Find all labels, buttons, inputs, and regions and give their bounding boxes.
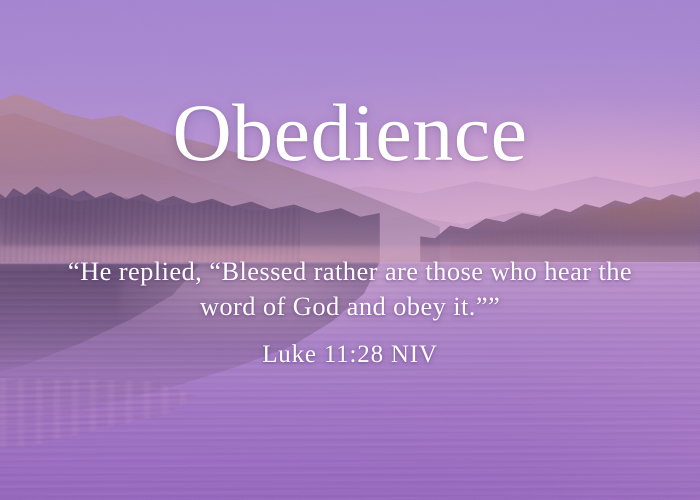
page-title: Obedience [0,92,700,174]
quote-graphic: Obedience “He replied, “Blessed rather a… [0,0,700,500]
verse-line-1: “He replied, “Blessed rather are those w… [68,256,537,286]
verse-text: “He replied, “Blessed rather are those w… [55,254,645,324]
text-overlay: Obedience “He replied, “Blessed rather a… [0,0,700,500]
verse-citation: Luke 11:28 NIV [0,340,700,370]
